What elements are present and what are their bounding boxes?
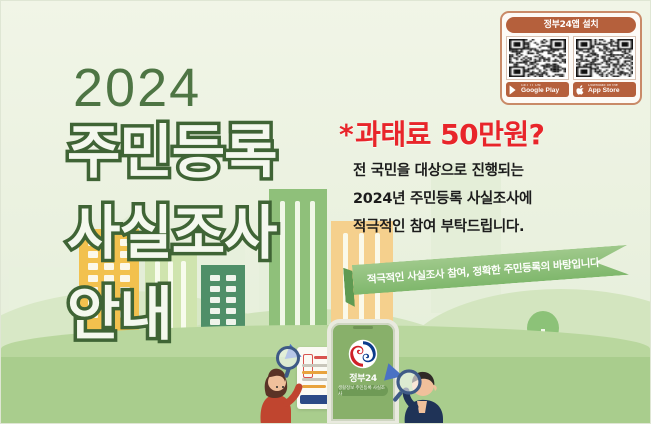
app-store-pretext: Download on the	[588, 84, 620, 88]
fine-amount-headline: *과태료 50만원?	[339, 113, 544, 153]
page-title-line-1: 주민등록	[67, 105, 276, 189]
body-text-line-1: 전 국민을 대상으로 진행되는	[353, 159, 524, 180]
body-text-line-2: 2024년 주민등록 사실조사에	[353, 187, 532, 208]
page-title-line-2: 사실조사	[67, 186, 276, 270]
app-store-name: App Store	[588, 88, 620, 95]
gov24-taegeuk-icon	[348, 339, 378, 369]
google-play-name: Google Play	[521, 88, 559, 95]
app-store-badge[interactable]: Download on the App Store	[573, 82, 636, 97]
qr-card-title: 정부24앱 설치	[506, 17, 636, 33]
app-install-qr-card: 정부24앱 설치 GET IT ON Google Play	[500, 11, 642, 105]
phone-speaker	[353, 326, 373, 329]
app-store-column[interactable]: Download on the App Store	[573, 36, 636, 97]
body-text-line-3: 적극적인 참여 부탁드립니다.	[353, 215, 524, 236]
google-play-badge[interactable]: GET IT ON Google Play	[506, 82, 569, 97]
google-play-qr-code[interactable]	[506, 36, 569, 80]
fine-amount-text: 과태료 50만원?	[355, 118, 544, 151]
asterisk-marker: *	[339, 118, 353, 151]
app-store-qr-code[interactable]	[573, 36, 636, 80]
magnifier-icon-right	[393, 369, 425, 403]
google-play-column[interactable]: GET IT ON Google Play	[506, 36, 569, 97]
google-play-icon	[509, 85, 518, 95]
ghost-building-5	[431, 163, 501, 313]
page-title-line-3: 안내	[67, 267, 172, 351]
google-play-pretext: GET IT ON	[521, 84, 559, 88]
residence-registration-survey-banner: 2024 주민등록 사실조사 안내 *과태료 50만원? 전 국민을 대상으로 …	[0, 0, 651, 424]
apple-icon	[576, 85, 585, 95]
gov24-service-button[interactable]: 생활정보 주민등록 사실조사	[338, 385, 388, 396]
magnifier-icon-left	[273, 345, 303, 379]
